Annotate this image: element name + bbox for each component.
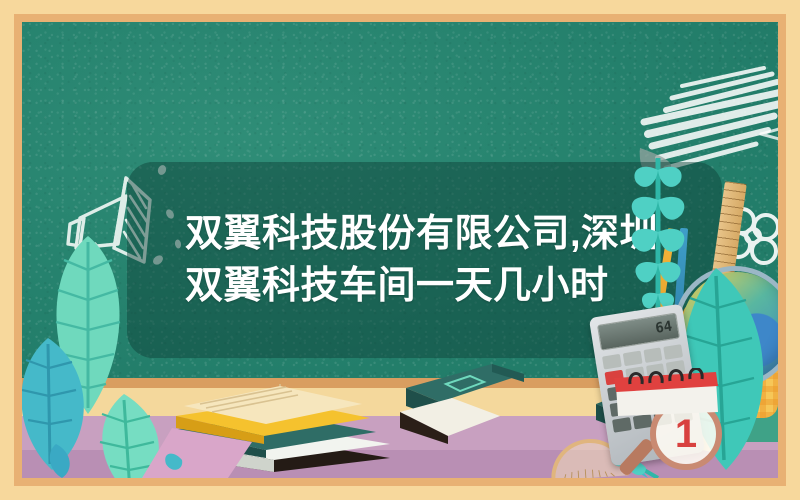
calc-key[interactable]: [643, 347, 663, 363]
calc-key[interactable]: [633, 414, 653, 430]
calculator-screen: 64: [597, 313, 680, 351]
chalkboard: 双翼科技股份有限公司,深圳双翼科技车间一天几小时: [22, 22, 778, 478]
calculator-display-value: 64: [654, 318, 673, 336]
book-stack-mid: [400, 358, 600, 444]
magnifier-number: 1: [675, 414, 697, 454]
paper-sheet-pink: [142, 408, 282, 478]
spiral-notebook: [612, 368, 722, 416]
calc-key[interactable]: [664, 344, 684, 360]
poster-canvas: 双翼科技股份有限公司,深圳双翼科技车间一天几小时: [0, 0, 800, 500]
calc-key[interactable]: [612, 417, 632, 433]
calc-key[interactable]: [623, 351, 643, 367]
